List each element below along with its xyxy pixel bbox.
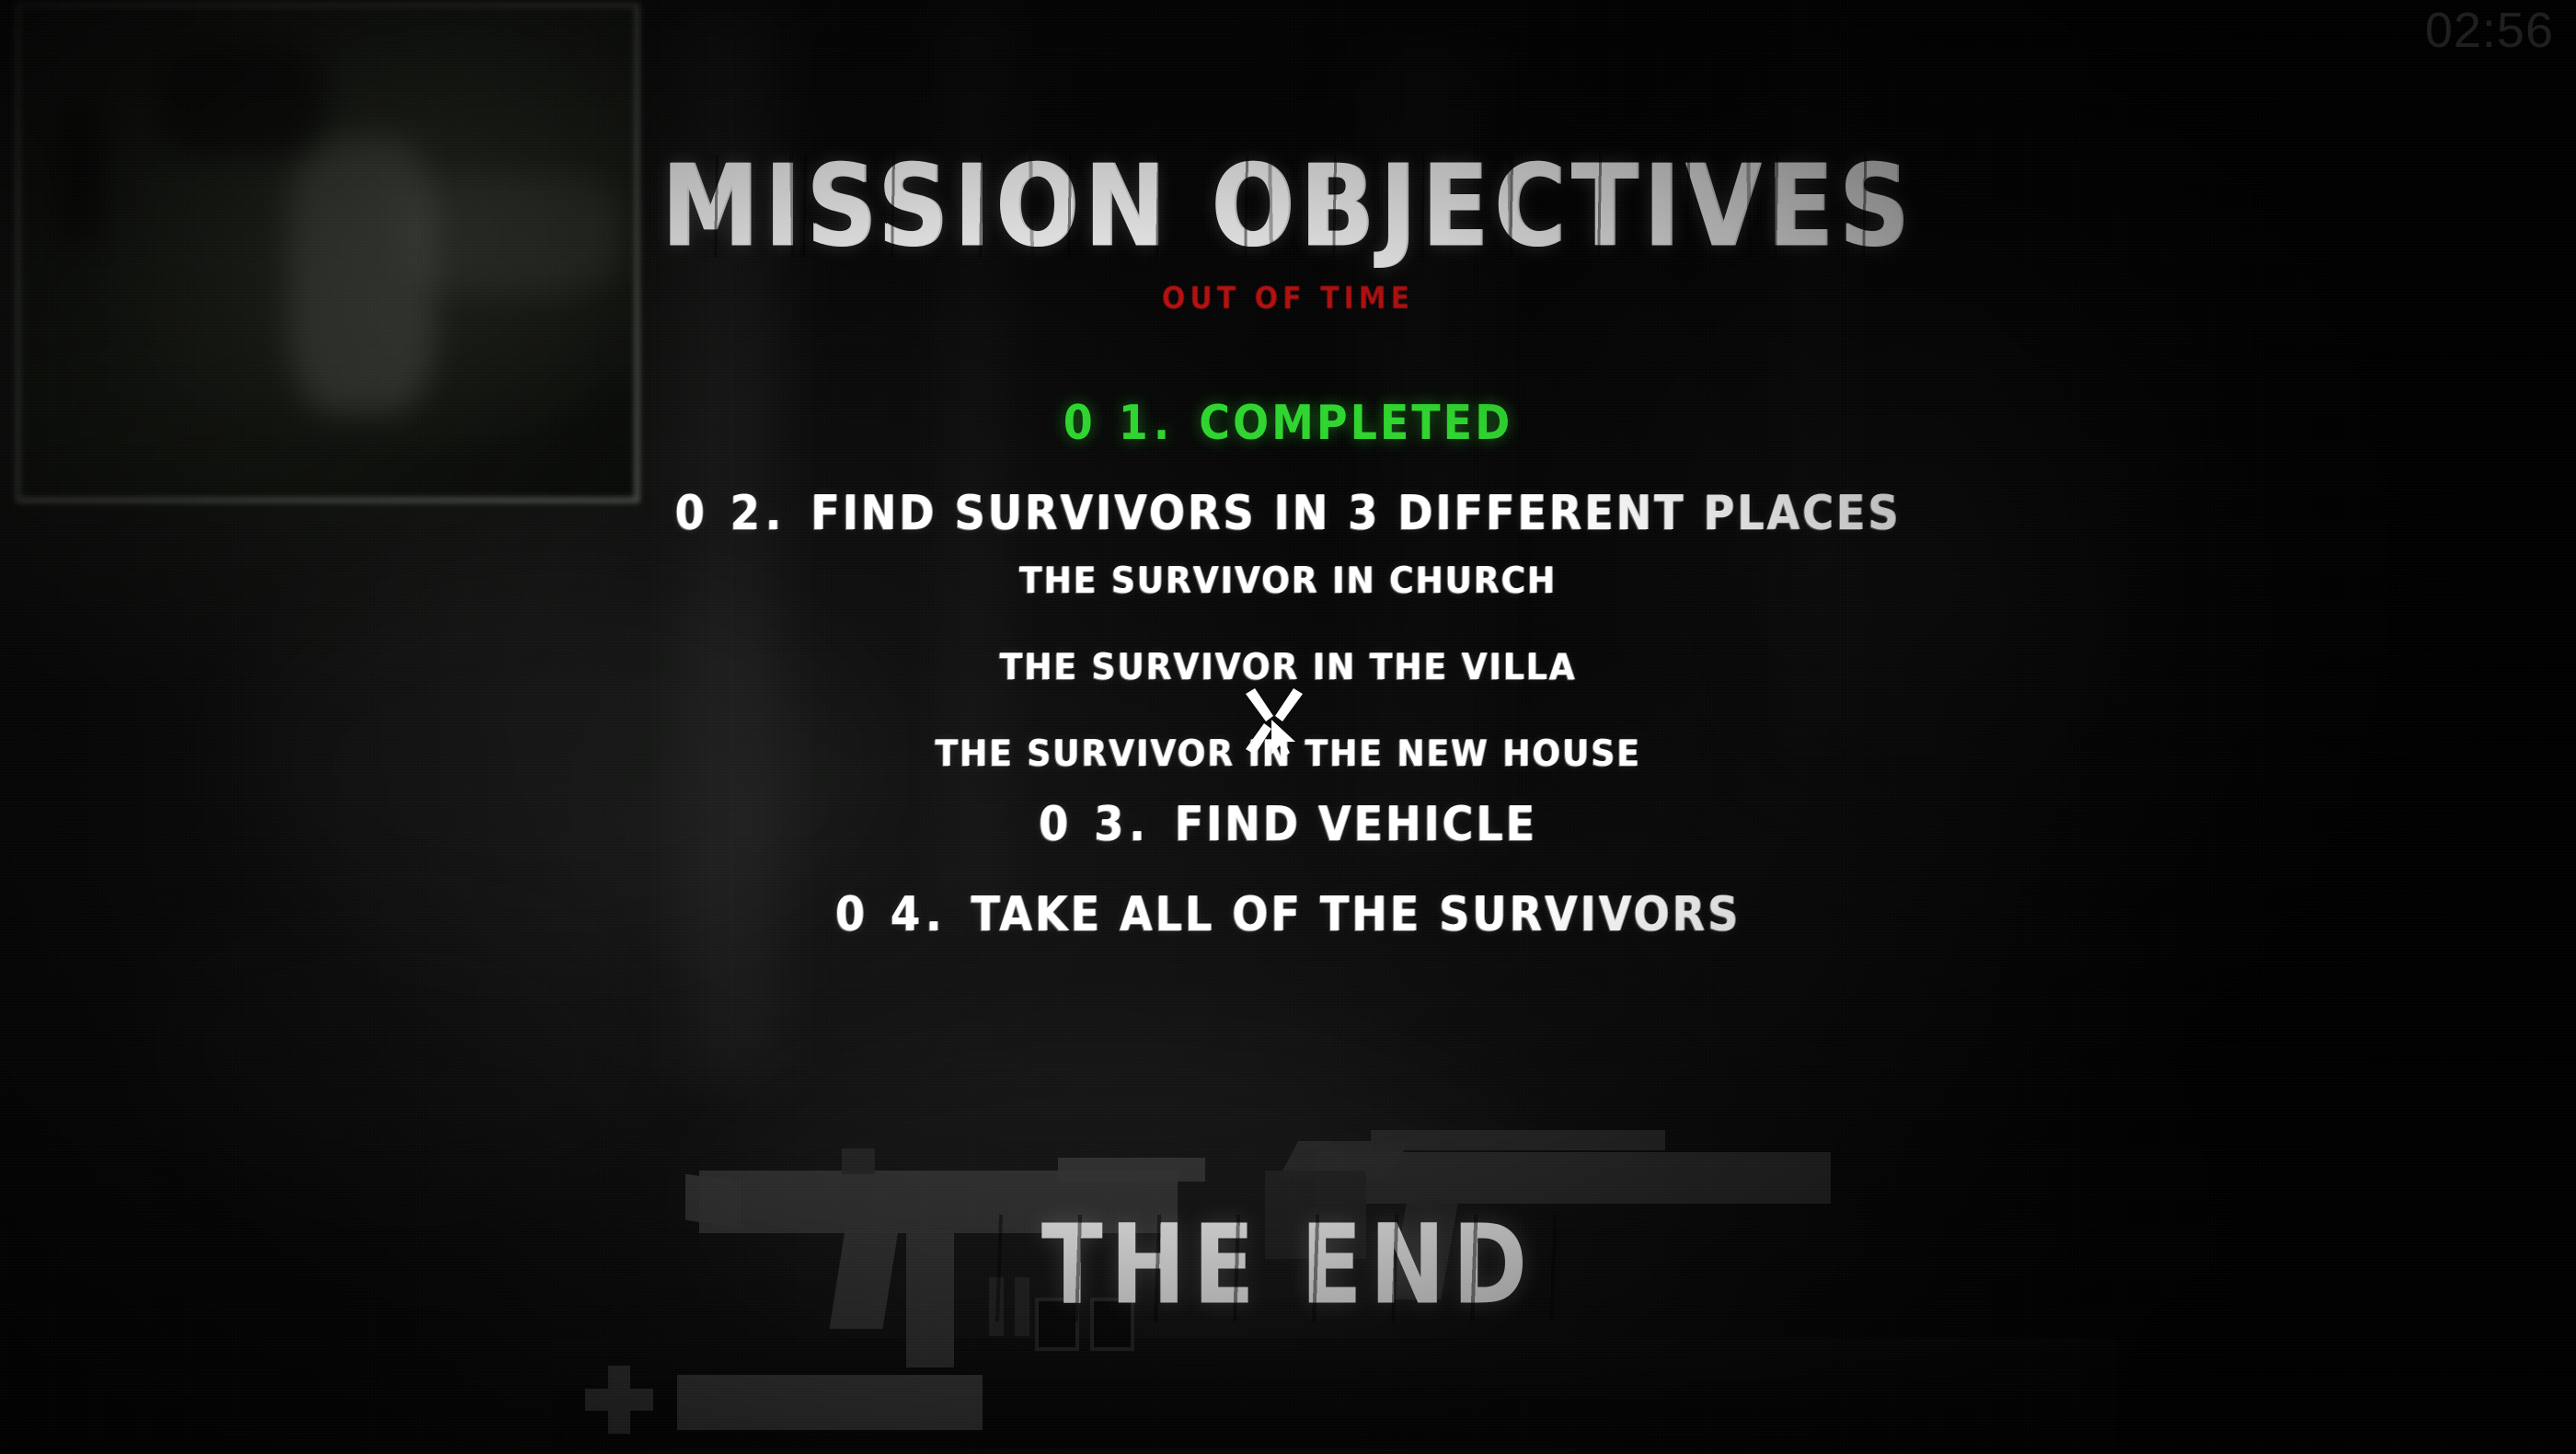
objective-row-03[interactable]: 0 3.FIND VEHICLE xyxy=(0,800,2576,848)
objective-row-02[interactable]: 0 2.FIND SURVIVORS IN 3 DIFFERENT PLACES xyxy=(0,489,2576,537)
game-screen: 02:56 MISSION OBJECTIVES OUT OF TIME 0 1… xyxy=(0,0,2576,1454)
objective-row-01[interactable]: 0 1.COMPLETED xyxy=(0,398,2576,446)
objective-label-03: FIND VEHICLE xyxy=(1175,796,1537,851)
page-title-text: MISSION OBJECTIVES xyxy=(661,150,1915,263)
objective-number-01: 0 1. xyxy=(1064,395,1176,450)
objective-02-sub-list: THE SURVIVOR IN CHURCH THE SURVIVOR IN T… xyxy=(0,565,2576,771)
objective-label-04: TAKE ALL OF THE SURVIVORS xyxy=(971,886,1741,941)
sub-objective-new-house[interactable]: THE SURVIVOR IN THE NEW HOUSE xyxy=(0,736,2576,773)
objectives-overlay: 02:56 MISSION OBJECTIVES OUT OF TIME 0 1… xyxy=(0,0,2576,1454)
page-title: MISSION OBJECTIVES xyxy=(0,158,2576,254)
objective-label-01: COMPLETED xyxy=(1199,395,1512,450)
objectives-list: 0 1.COMPLETED 0 2.FIND SURVIVORS IN 3 DI… xyxy=(0,401,2576,983)
objective-row-04[interactable]: 0 4.TAKE ALL OF THE SURVIVORS xyxy=(0,890,2576,938)
mission-timer: 02:56 xyxy=(2425,2,2554,59)
the-end-text: THE END xyxy=(1041,1201,1535,1329)
objective-number-03: 0 3. xyxy=(1039,796,1151,851)
sub-objective-church[interactable]: THE SURVIVOR IN CHURCH xyxy=(0,563,2576,600)
the-end-banner: THE END xyxy=(0,1213,2576,1318)
objective-label-02: FIND SURVIVORS IN 3 DIFFERENT PLACES xyxy=(811,485,1901,540)
objective-number-04: 0 4. xyxy=(835,886,948,941)
page-subtitle: OUT OF TIME xyxy=(0,281,2576,317)
sub-objective-villa[interactable]: THE SURVIVOR IN THE VILLA xyxy=(0,650,2576,687)
objective-number-02: 0 2. xyxy=(675,485,788,540)
